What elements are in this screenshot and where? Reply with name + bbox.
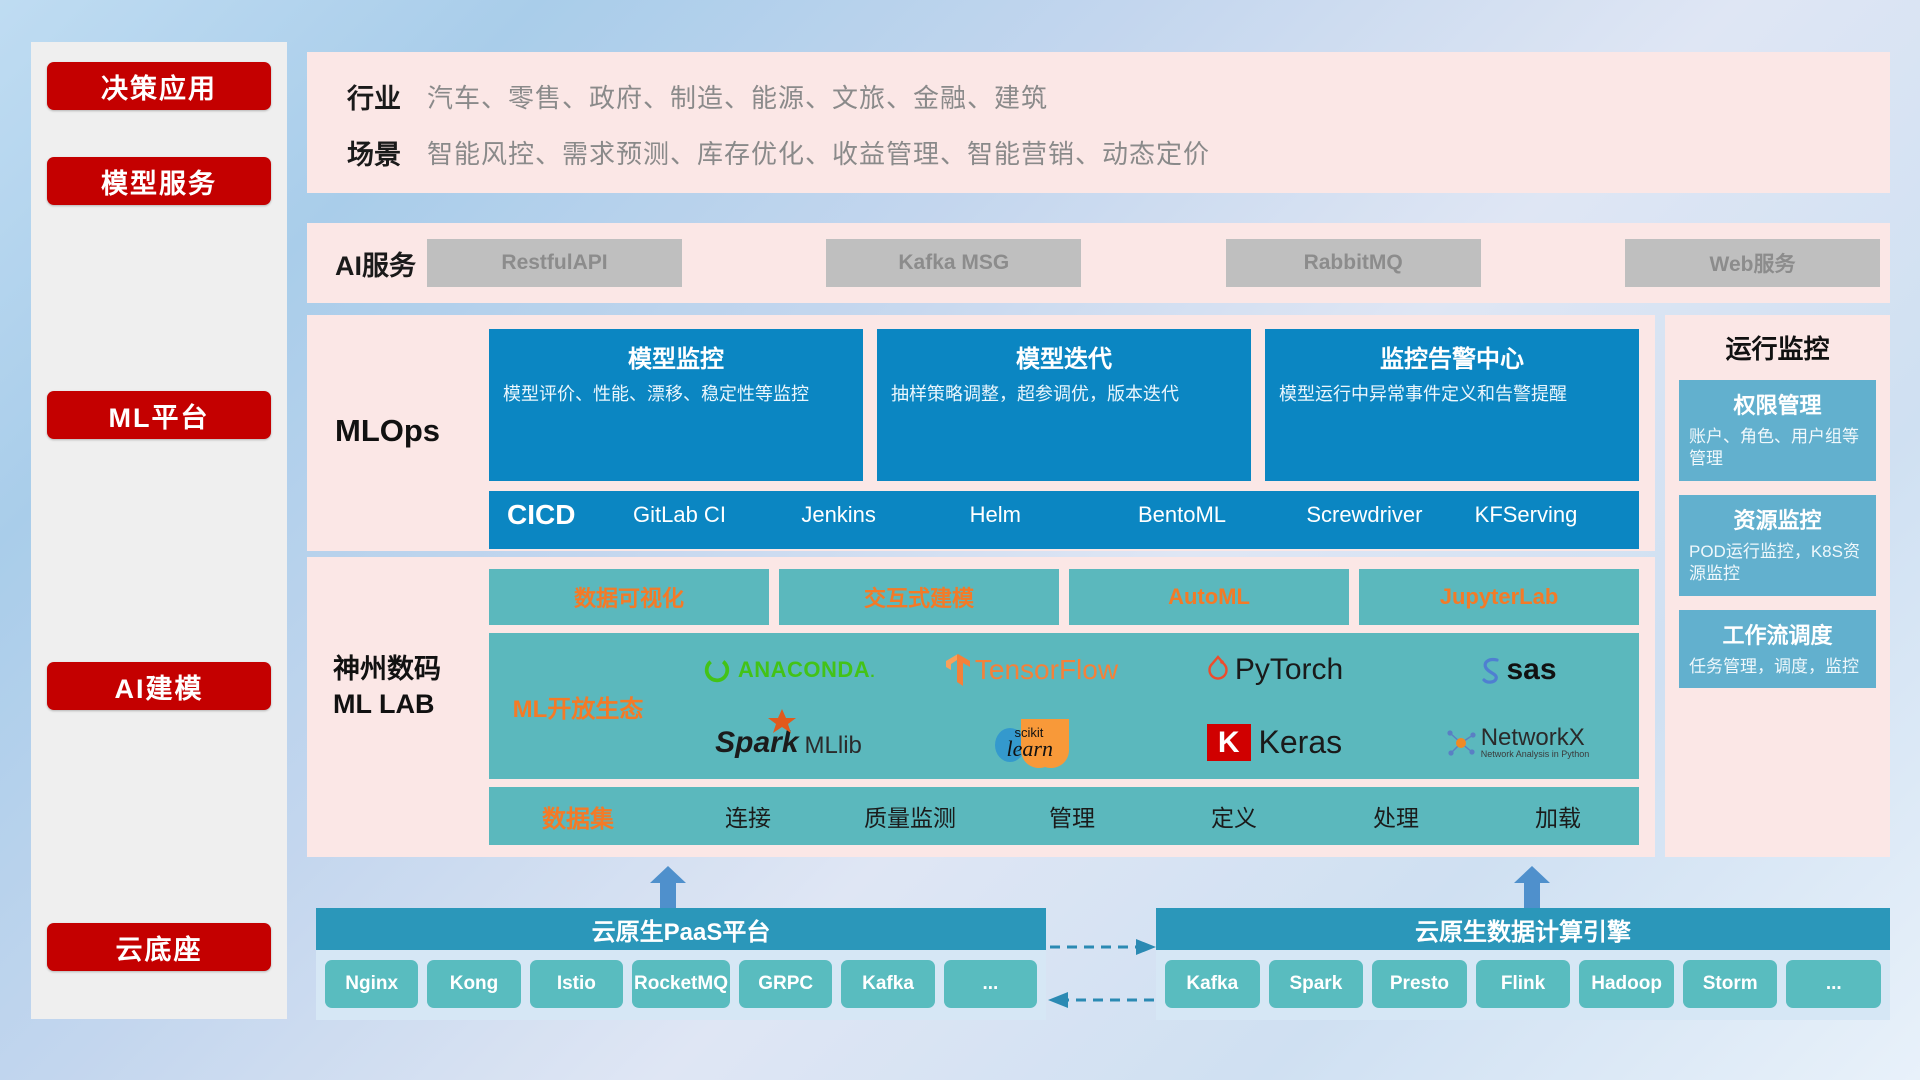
card-title: 资源监控 [1689, 503, 1866, 535]
mlops-panel: MLOps 模型监控 模型评价、性能、漂移、稳定性等监控 模型迭代 抽样策略调整… [307, 315, 1655, 551]
rail-label: 决策应用 [101, 67, 217, 106]
left-rail: 决策应用 模型服务 ML平台 AI建模 云底座 [31, 42, 287, 1019]
scikit-learn-logo: scikit learn [993, 717, 1071, 769]
rail-label: 云底座 [116, 928, 203, 967]
data-chip-more[interactable]: ... [1786, 960, 1881, 1008]
ai-service-label: AI服务 [307, 244, 427, 283]
rail-item-decision-app[interactable]: 决策应用 [47, 62, 271, 110]
rail-item-ml-platform[interactable]: ML平台 [47, 391, 271, 439]
data-engine-up-arrow-icon [1512, 866, 1552, 908]
diagram-canvas: 决策应用 模型服务 ML平台 AI建模 云底座 行业 汽车、零售、政府、制造、能… [0, 0, 1920, 1080]
tool-interactive-modeling[interactable]: 交互式建模 [779, 569, 1059, 625]
service-kafka-msg[interactable]: Kafka MSG [826, 239, 1081, 287]
bidirectional-link-arrows [1046, 930, 1158, 1020]
data-chip-flink[interactable]: Flink [1476, 960, 1571, 1008]
cicd-item-kfserving[interactable]: KFServing [1471, 491, 1639, 539]
rail-item-model-service[interactable]: 模型服务 [47, 157, 271, 205]
paas-chip-nginx[interactable]: Nginx [325, 960, 418, 1008]
cicd-item-bentoml[interactable]: BentoML [1134, 491, 1302, 539]
paas-chip-more[interactable]: ... [944, 960, 1037, 1008]
monitor-card-permission[interactable]: 权限管理 账户、角色、用户组等管理 [1679, 380, 1876, 481]
industry-row: 行业 汽车、零售、政府、制造、能源、文旅、金融、建筑 [307, 68, 1890, 124]
paas-chip-grpc[interactable]: GRPC [739, 960, 832, 1008]
tensorflow-logo: TensorFlow [945, 653, 1118, 687]
tool-jupyterlab[interactable]: JupyterLab [1359, 569, 1639, 625]
dataset-item-manage[interactable]: 管理 [991, 799, 1153, 833]
cicd-item-jenkins[interactable]: Jenkins [797, 491, 965, 539]
card-desc: 模型评价、性能、漂移、稳定性等监控 [503, 382, 849, 406]
cicd-item-screwdriver[interactable]: Screwdriver [1302, 491, 1470, 539]
ai-service-items: RestfulAPI Kafka MSG RabbitMQ Web服务 [427, 239, 1890, 287]
data-chip-presto[interactable]: Presto [1372, 960, 1467, 1008]
ml-tools-row: 数据可视化 交互式建模 AutoML JupyterLab [489, 569, 1639, 625]
scenario-row: 场景 智能风控、需求预测、库存优化、收益管理、智能营销、动态定价 [307, 124, 1890, 180]
dataset-tag: 数据集 [489, 799, 667, 834]
monitoring-title: 运行监控 [1665, 315, 1890, 366]
paas-chip-kong[interactable]: Kong [427, 960, 520, 1008]
dataset-row: 数据集 连接 质量监测 管理 定义 处理 加载 [489, 787, 1639, 845]
card-desc: POD运行监控，K8S资源监控 [1689, 541, 1866, 586]
sas-logo: sas [1478, 653, 1556, 687]
ml-ecosystem-tag: ML开放生态 [489, 689, 667, 724]
dataset-item-quality[interactable]: 质量监测 [829, 799, 991, 833]
card-desc: 账户、角色、用户组等管理 [1689, 426, 1866, 471]
card-desc: 模型运行中异常事件定义和告警提醒 [1279, 382, 1625, 406]
keras-logo: K Keras [1207, 724, 1342, 762]
data-engine-title: 云原生数据计算引擎 [1156, 908, 1890, 950]
card-title: 模型迭代 [891, 339, 1237, 374]
card-title: 工作流调度 [1689, 618, 1866, 650]
paas-chip-istio[interactable]: Istio [530, 960, 623, 1008]
scenario-values: 智能风控、需求预测、库存优化、收益管理、智能营销、动态定价 [427, 134, 1210, 171]
card-title: 监控告警中心 [1279, 339, 1625, 374]
card-desc: 抽样策略调整，超参调优，版本迭代 [891, 382, 1237, 406]
industry-values: 汽车、零售、政府、制造、能源、文旅、金融、建筑 [427, 78, 1048, 115]
tool-automl[interactable]: AutoML [1069, 569, 1349, 625]
anaconda-logo: ANACONDA. [702, 655, 875, 685]
ml-ecosystem-row: ML开放生态 ANACONDA. TensorFlow PyTorch [489, 633, 1639, 779]
paas-up-arrow-icon [648, 866, 688, 908]
cicd-item-gitlab-ci[interactable]: GitLab CI [629, 491, 797, 539]
industry-label: 行业 [307, 77, 427, 116]
monitor-card-workflow[interactable]: 工作流调度 任务管理，调度，监控 [1679, 610, 1876, 688]
monitor-card-resource[interactable]: 资源监控 POD运行监控，K8S资源监控 [1679, 495, 1876, 596]
ai-service-panel: AI服务 RestfulAPI Kafka MSG RabbitMQ Web服务 [307, 223, 1890, 303]
tool-data-visualization[interactable]: 数据可视化 [489, 569, 769, 625]
card-title: 权限管理 [1689, 388, 1866, 420]
service-restfulapi[interactable]: RestfulAPI [427, 239, 682, 287]
data-engine-chip-list: Kafka Spark Presto Flink Hadoop Storm ..… [1156, 950, 1890, 1018]
mlops-card-model-monitoring[interactable]: 模型监控 模型评价、性能、漂移、稳定性等监控 [489, 329, 863, 481]
data-chip-storm[interactable]: Storm [1683, 960, 1778, 1008]
mlops-card-alert-center[interactable]: 监控告警中心 模型运行中异常事件定义和告警提醒 [1265, 329, 1639, 481]
mlops-card-model-iteration[interactable]: 模型迭代 抽样策略调整，超参调优，版本迭代 [877, 329, 1251, 481]
ml-lab-label-en: ML LAB [333, 687, 441, 722]
paas-chip-kafka[interactable]: Kafka [841, 960, 934, 1008]
dataset-item-process[interactable]: 处理 [1315, 799, 1477, 833]
networkx-logo: NetworkX Network Analysis in Python [1446, 726, 1590, 759]
dataset-item-connect[interactable]: 连接 [667, 799, 829, 833]
ml-lab-label: 神州数码 ML LAB [333, 652, 441, 721]
spark-mllib-logo: Spark MLlib [715, 726, 862, 760]
service-web[interactable]: Web服务 [1625, 239, 1880, 287]
dataset-item-define[interactable]: 定义 [1153, 799, 1315, 833]
data-chip-hadoop[interactable]: Hadoop [1579, 960, 1674, 1008]
rail-item-cloud-base[interactable]: 云底座 [47, 923, 271, 971]
cicd-item-helm[interactable]: Helm [966, 491, 1134, 539]
dataset-item-load[interactable]: 加载 [1477, 799, 1639, 833]
scenario-label: 场景 [307, 133, 427, 172]
card-desc: 任务管理，调度，监控 [1689, 656, 1866, 678]
paas-chip-rocketmq[interactable]: RocketMQ [632, 960, 730, 1008]
rail-label: AI建模 [115, 667, 204, 706]
rail-label: ML平台 [109, 396, 210, 435]
cloud-native-paas-block: 云原生PaaS平台 Nginx Kong Istio RocketMQ GRPC… [316, 908, 1046, 1020]
data-chip-spark[interactable]: Spark [1269, 960, 1364, 1008]
runtime-monitoring-panel: 运行监控 权限管理 账户、角色、用户组等管理 资源监控 POD运行监控，K8S资… [1665, 315, 1890, 857]
decision-application-panel: 行业 汽车、零售、政府、制造、能源、文旅、金融、建筑 场景 智能风控、需求预测、… [307, 52, 1890, 193]
rail-item-ai-modeling[interactable]: AI建模 [47, 662, 271, 710]
rail-label: 模型服务 [101, 162, 217, 201]
service-rabbitmq[interactable]: RabbitMQ [1226, 239, 1481, 287]
ml-lab-label-cn: 神州数码 [333, 652, 441, 687]
data-chip-kafka[interactable]: Kafka [1165, 960, 1260, 1008]
pytorch-logo: PyTorch [1206, 653, 1343, 687]
paas-chip-list: Nginx Kong Istio RocketMQ GRPC Kafka ... [316, 950, 1046, 1018]
paas-title: 云原生PaaS平台 [316, 908, 1046, 950]
ai-modeling-panel: 神州数码 ML LAB 数据可视化 交互式建模 AutoML JupyterLa… [307, 557, 1655, 857]
mlops-card-list: 模型监控 模型评价、性能、漂移、稳定性等监控 模型迭代 抽样策略调整，超参调优，… [489, 329, 1639, 481]
cicd-tag: CICD [489, 491, 629, 539]
card-title: 模型监控 [503, 339, 849, 374]
mlops-label: MLOps [335, 413, 440, 449]
cicd-bar: CICD GitLab CI Jenkins Helm BentoML Scre… [489, 491, 1639, 549]
cloud-native-data-engine-block: 云原生数据计算引擎 Kafka Spark Presto Flink Hadoo… [1156, 908, 1890, 1020]
ml-ecosystem-logos: ANACONDA. TensorFlow PyTorch sas [667, 633, 1639, 779]
